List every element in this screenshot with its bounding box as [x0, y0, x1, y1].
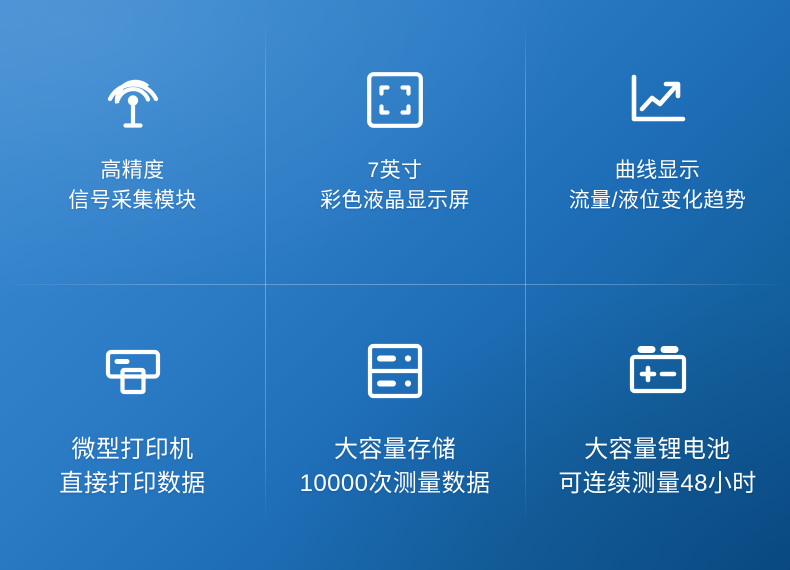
feature-label-line2: 彩色液晶显示屏: [320, 186, 470, 216]
feature-label: 曲线显示 流量/液位变化趋势: [569, 156, 746, 216]
feature-label: 大容量存储 10000次测量数据: [300, 433, 491, 501]
trend-chart-icon: [628, 64, 688, 136]
feature-highlights-panel: 高精度 信号采集模块 7英寸 彩色液晶显示屏: [0, 0, 790, 570]
feature-label-line1: 大容量锂电池: [558, 433, 756, 467]
feature-label: 7英寸 彩色液晶显示屏: [320, 156, 470, 216]
feature-label-line2: 可连续测量48小时: [558, 467, 756, 501]
feature-label-line1: 高精度: [68, 156, 196, 186]
feature-cell-display: 7英寸 彩色液晶显示屏: [265, 0, 525, 284]
feature-cell-signal-module: 高精度 信号采集模块: [0, 0, 265, 284]
feature-label-line2: 流量/液位变化趋势: [569, 186, 746, 216]
storage-server-icon: [366, 335, 424, 407]
feature-label-line1: 微型打印机: [59, 433, 205, 467]
printer-icon: [103, 335, 163, 407]
feature-label: 微型打印机 直接打印数据: [59, 433, 205, 501]
feature-label-line1: 曲线显示: [569, 156, 746, 186]
feature-label-line2: 信号采集模块: [68, 186, 196, 216]
feature-cell-battery: 大容量锂电池 可连续测量48小时: [525, 284, 790, 570]
feature-label-line1: 7英寸: [320, 156, 470, 186]
feature-label-line1: 大容量存储: [300, 433, 491, 467]
feature-cell-printer: 微型打印机 直接打印数据: [0, 284, 265, 570]
battery-icon: [628, 335, 688, 407]
feature-label: 高精度 信号采集模块: [68, 156, 196, 216]
feature-cell-storage: 大容量存储 10000次测量数据: [265, 284, 525, 570]
feature-label-line2: 10000次测量数据: [300, 467, 491, 501]
feature-grid: 高精度 信号采集模块 7英寸 彩色液晶显示屏: [0, 0, 790, 570]
feature-cell-curve-display: 曲线显示 流量/液位变化趋势: [525, 0, 790, 284]
signal-antenna-icon: [104, 64, 162, 136]
display-screen-icon: [366, 64, 424, 136]
feature-label: 大容量锂电池 可连续测量48小时: [558, 433, 756, 501]
feature-label-line2: 直接打印数据: [59, 467, 205, 501]
